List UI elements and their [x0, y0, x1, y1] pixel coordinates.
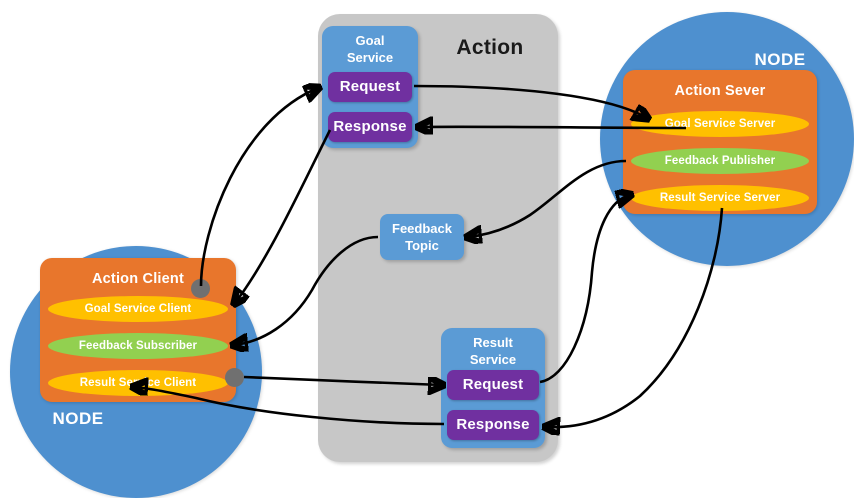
goal-service-response[interactable]: Response: [328, 112, 412, 142]
goal-service-request[interactable]: Request: [328, 72, 412, 102]
goal-service-title-line1: Goal: [322, 32, 418, 49]
server-node-label: NODE: [740, 50, 820, 70]
arrow-goal-response-to-client: [235, 130, 330, 303]
feedback-subscriber-ellipse[interactable]: Feedback Subscriber: [48, 333, 228, 359]
action-server-title: Action Sever: [623, 81, 817, 101]
result-service-title-line2: Service: [441, 351, 545, 368]
result-service-title: Result Service: [441, 334, 545, 370]
goal-client-port-dot: [191, 279, 210, 298]
arrow-goal-client-to-request: [201, 88, 318, 286]
result-service-response[interactable]: Response: [447, 410, 539, 440]
result-client-port-dot: [225, 368, 244, 387]
goal-service-client-ellipse[interactable]: Goal Service Client: [48, 296, 228, 322]
client-node-label: NODE: [38, 409, 118, 429]
result-service-request[interactable]: Request: [447, 370, 539, 400]
feedback-topic-box[interactable]: Feedback Topic: [380, 214, 464, 260]
feedback-topic-line1: Feedback: [380, 220, 464, 237]
action-container-label: Action: [430, 34, 550, 62]
goal-service-server-ellipse[interactable]: Goal Service Server: [631, 111, 809, 137]
goal-service-title: Goal Service: [322, 32, 418, 68]
result-service-server-ellipse[interactable]: Result Service Server: [631, 185, 809, 211]
goal-service-title-line2: Service: [322, 49, 418, 66]
diagram-canvas: Action NODE Action Sever Goal Service Se…: [0, 0, 854, 480]
feedback-publisher-ellipse[interactable]: Feedback Publisher: [631, 148, 809, 174]
result-service-client-ellipse[interactable]: Result Service Client: [48, 370, 228, 396]
result-service-title-line1: Result: [441, 334, 545, 351]
feedback-topic-line2: Topic: [380, 237, 464, 254]
